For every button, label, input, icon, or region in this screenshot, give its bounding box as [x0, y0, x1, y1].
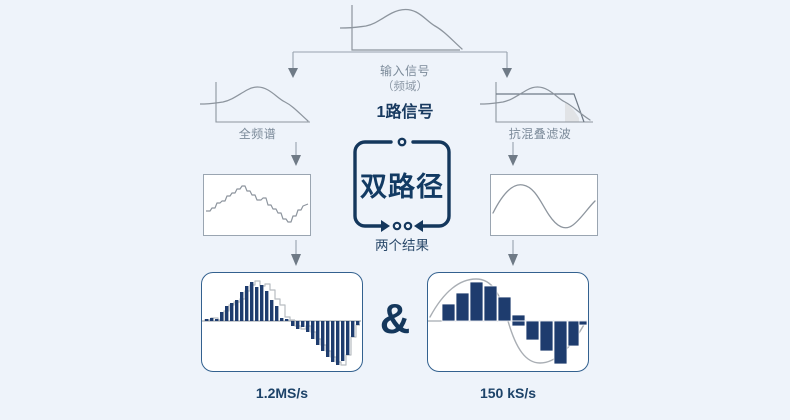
low-rate-label: 150 kS/s — [427, 385, 589, 401]
input-signal-subtitle: （频域） — [340, 78, 470, 94]
anti-alias-chart — [480, 80, 600, 130]
left-branch-label: 全频谱 — [200, 125, 315, 142]
arrow-right-icon — [381, 220, 390, 232]
dot-icon — [394, 223, 400, 229]
arrow-left-icon — [414, 220, 423, 232]
noisy-waveform-box — [203, 174, 311, 236]
arrow-down-icon — [288, 240, 304, 268]
input-count-label: 1路信号 — [340, 98, 470, 122]
full-spectrum-svg — [200, 80, 315, 130]
arrow-down-icon — [288, 68, 298, 78]
top-split-connector — [285, 44, 515, 80]
center-label: 双路径 — [347, 165, 457, 204]
arrow-down-icon — [505, 142, 521, 168]
results-label: 两个结果 — [347, 234, 457, 254]
arrow-noisy-to-sampled — [288, 240, 304, 268]
sample-bars-positive — [442, 282, 525, 321]
sine-waveform-svg — [491, 175, 597, 235]
noisy-waveform-svg — [204, 175, 310, 235]
full-spectrum-chart — [200, 80, 315, 130]
high-rate-sample-svg — [202, 273, 361, 370]
ampersand-separator: & — [372, 298, 418, 340]
arrow-down-icon — [502, 68, 512, 78]
dot-icon — [405, 223, 411, 229]
arrow-left-branch-to-wave — [288, 142, 304, 168]
low-rate-sample-svg — [428, 273, 587, 370]
right-branch-label: 抗混叠滤波 — [480, 125, 600, 142]
arrow-sine-to-sampled — [505, 240, 521, 268]
sine-waveform-box — [490, 174, 598, 236]
high-rate-label: 1.2MS/s — [201, 385, 363, 401]
top-split-connector-svg — [285, 44, 515, 80]
high-rate-sample-box — [201, 272, 363, 372]
arrow-down-icon — [505, 240, 521, 268]
low-rate-sample-box — [427, 272, 589, 372]
arrow-right-branch-to-wave — [505, 142, 521, 168]
dot-icon — [399, 139, 405, 145]
sample-bars-positive — [205, 282, 288, 321]
sample-bars-negative — [512, 321, 587, 364]
arrow-down-icon — [288, 142, 304, 168]
anti-alias-svg — [480, 80, 600, 130]
